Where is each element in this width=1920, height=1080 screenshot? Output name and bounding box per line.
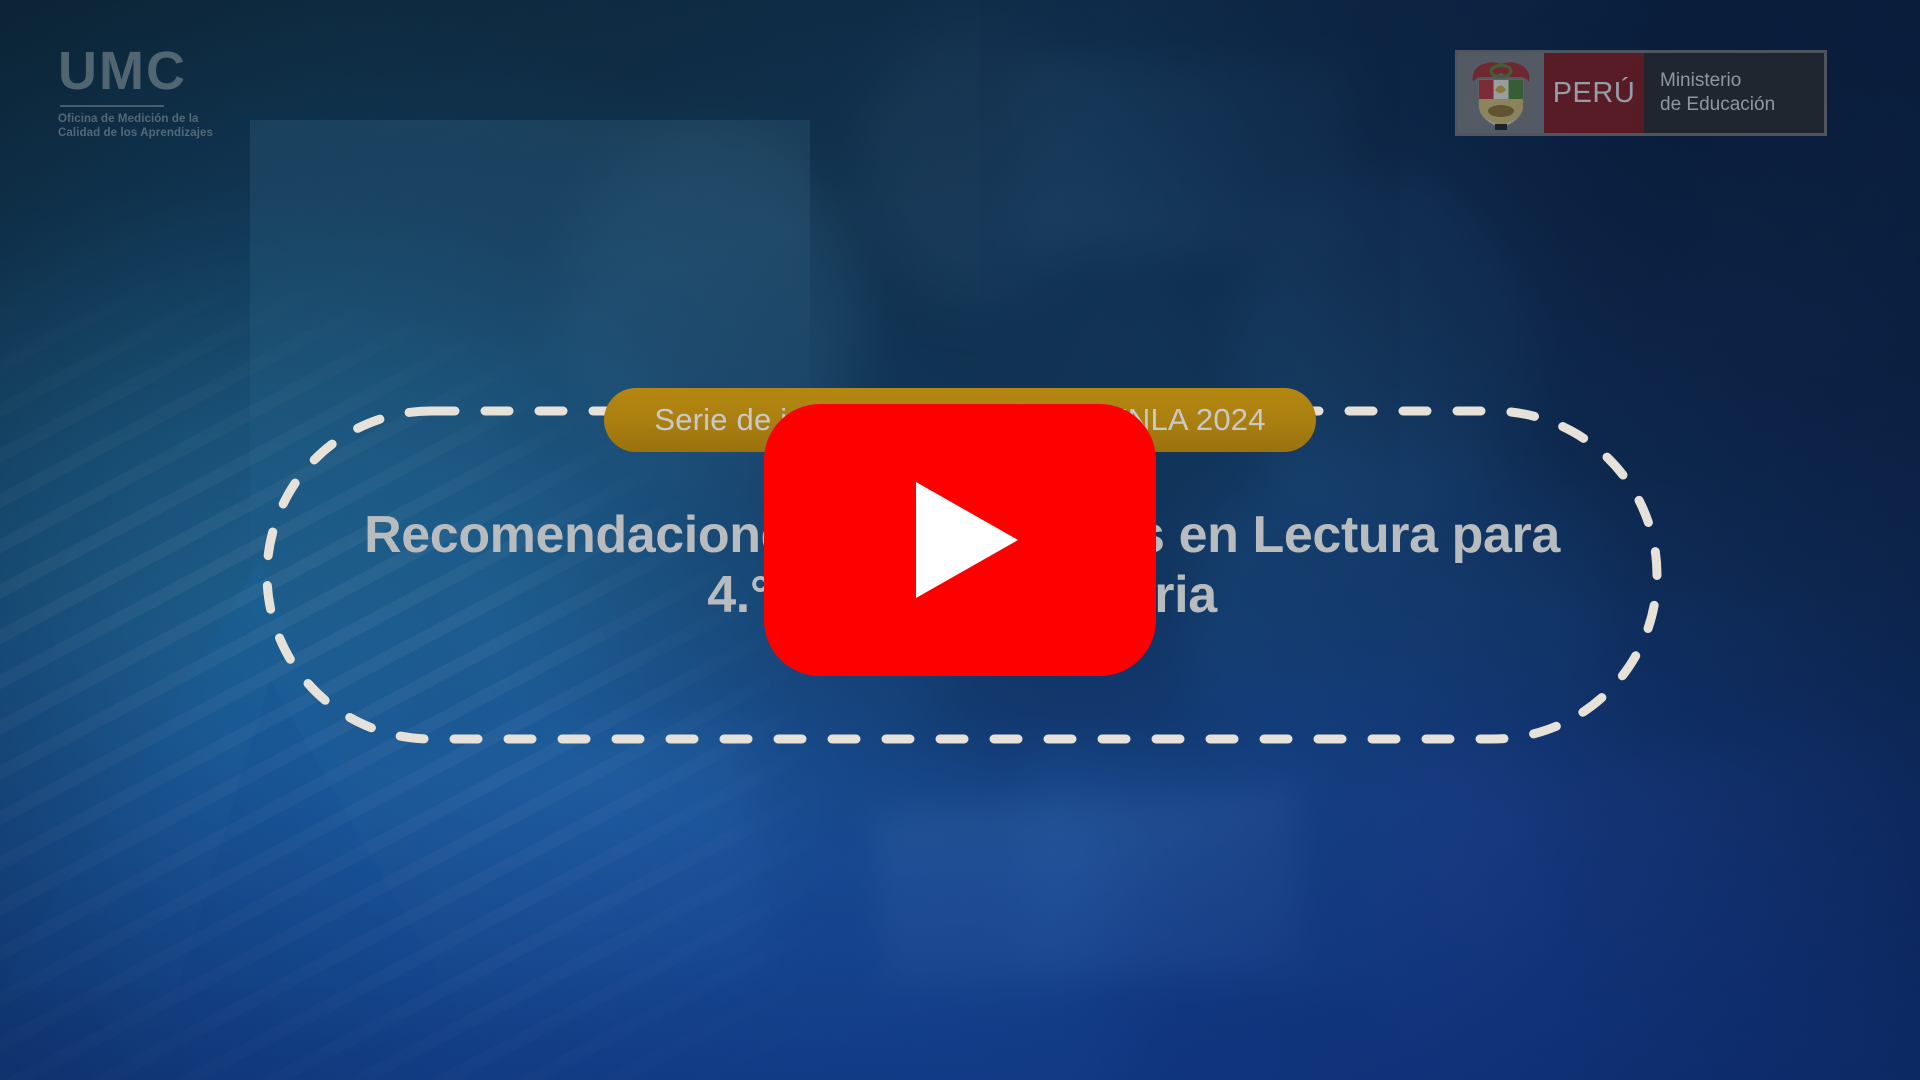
umc-logo: UMC Oficina de Medición de la Calidad de… bbox=[58, 44, 288, 141]
video-thumbnail: UMC Oficina de Medición de la Calidad de… bbox=[0, 0, 1920, 1080]
play-icon bbox=[916, 482, 1018, 598]
umc-acronym: UMC bbox=[58, 44, 288, 98]
umc-subtitle-line1: Oficina de Medición de la bbox=[58, 112, 288, 126]
minedu-logo: PERÚ Ministerio de Educación bbox=[1455, 50, 1827, 136]
umc-divider bbox=[60, 105, 164, 107]
ministry-line2: de Educación bbox=[1660, 93, 1824, 117]
ministry-label: Ministerio de Educación bbox=[1644, 53, 1824, 133]
peru-coat-of-arms-icon bbox=[1458, 53, 1544, 133]
peru-label: PERÚ bbox=[1544, 53, 1644, 133]
umc-subtitle-line2: Calidad de los Aprendizajes bbox=[58, 126, 288, 140]
peru-text: PERÚ bbox=[1553, 77, 1636, 110]
ministry-line1: Ministerio bbox=[1660, 69, 1824, 93]
play-button[interactable] bbox=[764, 404, 1156, 676]
